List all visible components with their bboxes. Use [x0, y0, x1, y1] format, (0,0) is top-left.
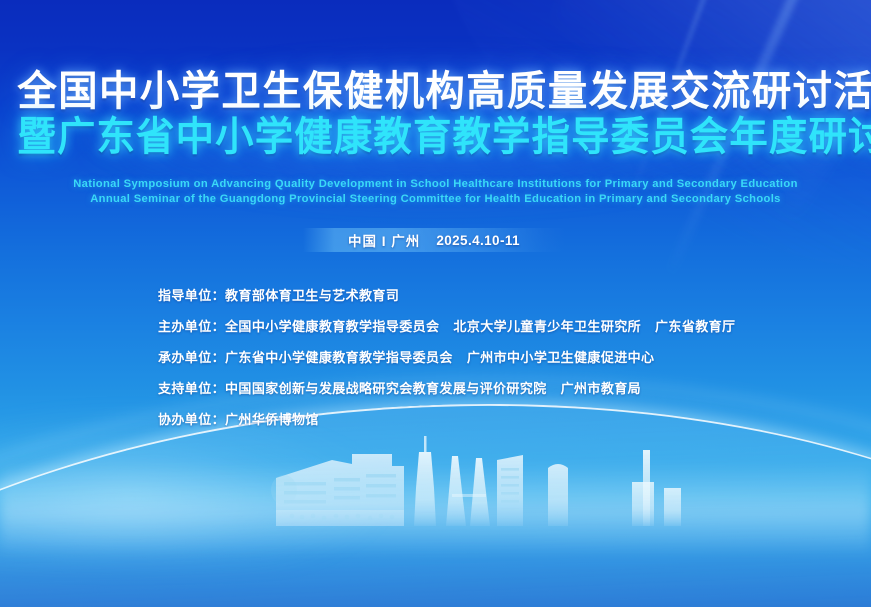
organizer-values: 广州华侨博物馆 — [225, 409, 319, 428]
organizer-name: 中国国家创新与发展战略研究会教育发展与评价研究院 — [225, 381, 547, 396]
title-line-primary: 全国中小学卫生保健机构高质量发展交流研讨活动 — [17, 70, 853, 113]
high-rise-block-icon — [548, 464, 568, 526]
school-building-icon — [271, 454, 404, 526]
organizer-label: 协办单位： — [158, 409, 225, 428]
poster-title: 全国中小学卫生保健机构高质量发展交流研讨活动 暨广东省中小学健康教育教学指导委员… — [0, 70, 871, 159]
title-line-secondary: 暨广东省中小学健康教育教学指导委员会年度研讨活动 — [17, 116, 853, 158]
organizer-name: 广州市教育局 — [561, 381, 641, 396]
organizer-name: 广东省教育厅 — [655, 319, 735, 334]
background-swoosh-upper-right — [431, 0, 871, 328]
organizer-name: 广东省中小学健康教育教学指导委员会 — [225, 350, 453, 365]
organizer-name: 全国中小学健康教育教学指导委员会 — [225, 319, 439, 334]
organizer-row: 支持单位：中国国家创新与发展战略研究会教育发展与评价研究院广州市教育局 — [158, 378, 758, 397]
organizer-label: 承办单位： — [158, 347, 225, 366]
organizer-values: 中国国家创新与发展战略研究会教育发展与评价研究院广州市教育局 — [225, 378, 641, 397]
organizer-values: 全国中小学健康教育教学指导委员会北京大学儿童青少年卫生研究所广东省教育厅 — [225, 316, 735, 335]
event-location-date-bar: 中国 I 广州 2025.4.10-11 — [303, 228, 565, 252]
organizer-row: 指导单位：教育部体育卫生与艺术教育司 — [158, 285, 758, 304]
city-skyline-illustration — [0, 430, 871, 545]
organizer-name: 广州市中小学卫生健康促进中心 — [467, 350, 655, 365]
poster-subtitle-english: National Symposium on Advancing Quality … — [0, 177, 871, 207]
office-tower-icon — [497, 455, 523, 526]
organizer-values: 教育部体育卫生与艺术教育司 — [225, 285, 399, 304]
event-date: 2025.4.10-11 — [436, 233, 520, 248]
subtitle-line-2: Annual Seminar of the Guangdong Provinci… — [0, 192, 871, 207]
organizer-name: 广州华侨博物馆 — [225, 412, 319, 427]
subtitle-line-1: National Symposium on Advancing Quality … — [0, 177, 871, 192]
canton-tower-icon — [414, 436, 436, 526]
organizer-name: 教育部体育卫生与艺术教育司 — [225, 288, 399, 303]
ground-haze — [0, 462, 871, 552]
organizer-label: 主办单位： — [158, 316, 225, 335]
organizer-list: 指导单位：教育部体育卫生与艺术教育司主办单位：全国中小学健康教育教学指导委员会北… — [158, 285, 758, 428]
organizer-row: 主办单位：全国中小学健康教育教学指导委员会北京大学儿童青少年卫生研究所广东省教育… — [158, 316, 758, 335]
organizer-label: 指导单位： — [158, 285, 225, 304]
event-location: 中国 I 广州 — [348, 230, 420, 250]
conference-poster: 全国中小学卫生保健机构高质量发展交流研讨活动 暨广东省中小学健康教育教学指导委员… — [0, 0, 871, 607]
organizer-name: 北京大学儿童青少年卫生研究所 — [453, 319, 641, 334]
twin-spire-towers-icon — [446, 456, 490, 526]
organizer-row: 承办单位：广东省中小学健康教育教学指导委员会广州市中小学卫生健康促进中心 — [158, 347, 758, 366]
organizer-values: 广东省中小学健康教育教学指导委员会广州市中小学卫生健康促进中心 — [225, 347, 654, 366]
far-right-towers-icon — [632, 450, 681, 526]
organizer-label: 支持单位： — [158, 378, 225, 397]
organizer-row: 协办单位：广州华侨博物馆 — [158, 409, 758, 428]
